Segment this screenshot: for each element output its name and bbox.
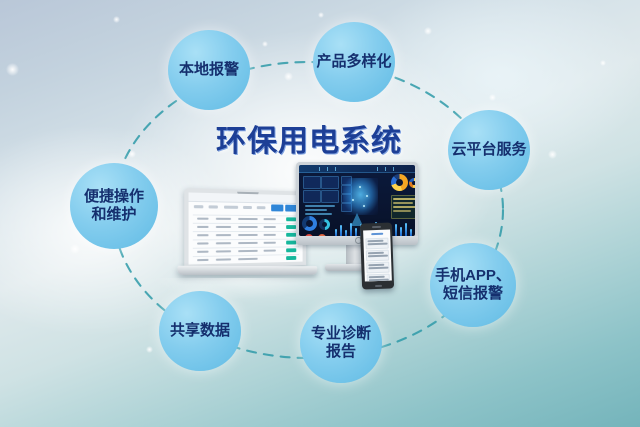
table-cell xyxy=(238,258,258,260)
phone-home-button xyxy=(375,285,382,287)
list-row xyxy=(393,202,413,204)
table-toolbar xyxy=(189,192,303,204)
bubble-cloud-platform[interactable]: 云平台服务 xyxy=(448,110,530,190)
bar xyxy=(405,223,407,236)
toolbar-item xyxy=(257,206,266,209)
dashboard-header xyxy=(299,165,415,173)
bar xyxy=(355,228,357,236)
header-tick xyxy=(377,167,378,171)
status-badge xyxy=(286,233,296,237)
table-cell xyxy=(238,242,258,244)
bar xyxy=(350,223,352,236)
page-title: 环保用电系统 xyxy=(216,116,402,160)
table-cell xyxy=(264,226,276,228)
bar xyxy=(395,224,397,236)
toolbar-item xyxy=(209,205,218,208)
map-point xyxy=(363,205,365,207)
stat-panel xyxy=(321,176,339,189)
laptop-screen xyxy=(189,192,303,264)
monitor-body xyxy=(296,162,418,245)
bar xyxy=(410,229,412,236)
table-divider xyxy=(193,246,299,249)
monitor-chin xyxy=(296,236,418,245)
table-divider xyxy=(193,239,299,241)
table-cell xyxy=(216,234,231,236)
table-cell xyxy=(238,218,258,220)
bubble-label: 本地报警 xyxy=(179,61,239,79)
bubble-product-diversity[interactable]: 产品多样化 xyxy=(313,22,395,102)
table-divider xyxy=(193,254,299,257)
bubble-label: 产品多样化 xyxy=(316,53,391,71)
status-badge xyxy=(286,241,296,245)
bar xyxy=(335,229,337,236)
bubble-diagnostic-report[interactable]: 专业诊断 报告 xyxy=(300,303,382,383)
monitor-screen xyxy=(299,165,415,236)
donut-hole xyxy=(412,181,415,185)
list-row xyxy=(393,198,415,200)
bubble-label: 手机APP、 短信报警 xyxy=(435,267,511,302)
bubble-mobile-sms-alarm[interactable]: 手机APP、 短信报警 xyxy=(430,243,516,327)
table-cell xyxy=(216,242,231,244)
header-tick xyxy=(393,167,394,171)
table-cell xyxy=(238,234,258,236)
table-divider xyxy=(193,223,299,224)
phone-speaker xyxy=(371,226,380,228)
table-cell xyxy=(264,234,276,236)
stat-panel xyxy=(303,190,321,203)
china-map-visual xyxy=(343,178,378,215)
table-cell xyxy=(197,218,209,220)
table-cell xyxy=(264,218,276,220)
bubble-easy-operation[interactable]: 便捷操作 和维护 xyxy=(70,163,158,249)
donut-hole xyxy=(396,179,403,186)
table-action-button xyxy=(271,204,283,211)
header-tick xyxy=(319,167,320,171)
toolbar-item xyxy=(224,206,238,209)
toolbar-item xyxy=(194,205,203,208)
header-tick xyxy=(327,167,328,171)
table-cell xyxy=(238,226,258,228)
list-row xyxy=(393,206,415,208)
dashboard xyxy=(299,165,415,236)
status-badge xyxy=(286,256,296,260)
phone-screen xyxy=(363,230,392,282)
header-tick xyxy=(335,167,336,171)
bubble-label: 便捷操作 和维护 xyxy=(84,188,144,223)
bar xyxy=(400,227,402,236)
stat-panel xyxy=(303,176,321,189)
panel-bar xyxy=(305,209,327,211)
panel-bar xyxy=(305,205,335,207)
table-cell xyxy=(197,234,209,236)
toolbar-item xyxy=(243,206,252,209)
table-cell xyxy=(264,242,276,244)
status-badge xyxy=(286,248,296,252)
header-tick xyxy=(385,167,386,171)
gauge-hole xyxy=(306,220,313,227)
gauge-hole xyxy=(322,222,327,227)
stat-panel xyxy=(321,190,339,203)
bubble-shared-data[interactable]: 共享数据 xyxy=(159,291,241,371)
table-cell xyxy=(216,258,231,260)
table-cell xyxy=(216,226,231,228)
status-badge xyxy=(286,225,296,229)
table-cell xyxy=(197,259,209,261)
table-cell xyxy=(238,250,258,252)
table-divider xyxy=(193,214,299,216)
smartphone xyxy=(360,222,394,289)
laptop-lid xyxy=(184,188,306,269)
table-cell xyxy=(197,226,209,228)
bubble-label: 云平台服务 xyxy=(451,141,526,159)
table-cell xyxy=(197,251,209,253)
bubble-label: 专业诊断 报告 xyxy=(311,325,371,360)
bubble-label: 共享数据 xyxy=(170,322,230,340)
poster-canvas: 环保用电系统 本地报警 产品多样化 云平台服务 手机APP、 短信报警 专业诊断… xyxy=(0,0,640,427)
table-cell xyxy=(264,250,276,252)
table-cell xyxy=(216,250,231,252)
bar xyxy=(340,225,342,236)
status-badge xyxy=(286,217,296,221)
phone-title-text xyxy=(371,233,383,235)
table-cell xyxy=(197,242,209,244)
laptop-base xyxy=(177,266,317,275)
table-cell xyxy=(216,218,231,220)
table-divider xyxy=(193,231,299,232)
list-row xyxy=(393,210,411,212)
panel-bar xyxy=(305,213,332,215)
bubble-local-alarm[interactable]: 本地报警 xyxy=(168,30,250,110)
